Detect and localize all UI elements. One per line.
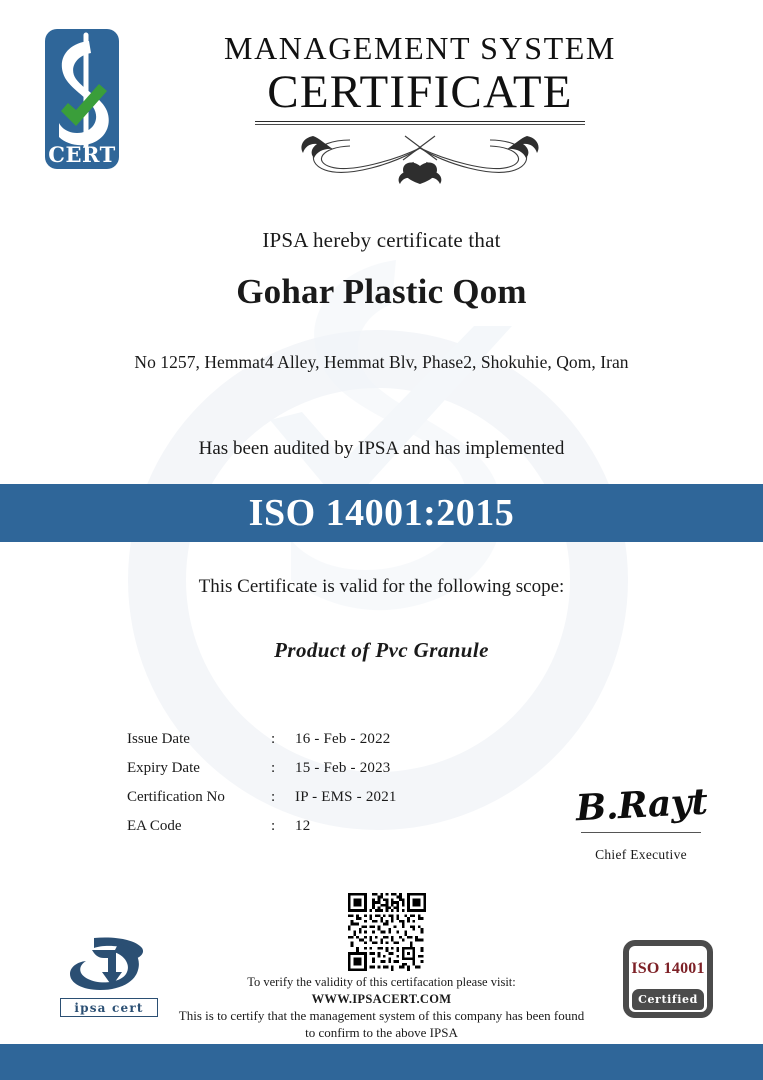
table-row: Certification No : IP - EMS - 2021: [127, 789, 397, 818]
hereby-line: IPSA hereby certificate that: [0, 228, 763, 253]
detail-value-ea-code: 12: [295, 818, 397, 847]
title-certificate: CERTIFICATE: [130, 68, 710, 117]
signature-block: B.Rayt Chief Executive: [566, 764, 716, 863]
standard-name: ISO 14001:2015: [249, 494, 515, 532]
table-row: Issue Date : 16 - Feb - 2022: [127, 731, 397, 760]
iso-badge-standard: ISO 14001: [629, 960, 707, 978]
table-row: EA Code : 12: [127, 818, 397, 847]
company-address: No 1257, Hemmat4 Alley, Hemmat Blv, Phas…: [0, 352, 763, 373]
title-management-system: MANAGEMENT SYSTEM: [130, 32, 710, 66]
certificate-page: CERT MANAGEMENT SYSTEM CERTIFICATE: [0, 0, 763, 1080]
scope-label: This Certificate is valid for the follow…: [0, 576, 763, 598]
statement-line-2: to confirm to the above IPSA: [0, 1024, 763, 1041]
title-divider-rule: [255, 121, 585, 125]
detail-label-issue-date: Issue Date: [127, 731, 271, 760]
detail-separator: :: [271, 760, 295, 789]
svg-text:CERT: CERT: [48, 142, 115, 167]
detail-label-ea-code: EA Code: [127, 818, 271, 847]
scroll-flourish-ornament-icon: [255, 126, 585, 184]
detail-separator: :: [271, 818, 295, 847]
detail-value-expiry-date: 15 - Feb - 2023: [295, 760, 397, 789]
standard-banner: ISO 14001:2015: [0, 484, 763, 542]
audited-line: Has been audited by IPSA and has impleme…: [0, 438, 763, 460]
scope-value: Product of Pvc Granule: [0, 638, 763, 663]
company-name: Gohar Plastic Qom: [0, 272, 763, 312]
certificate-details: Issue Date : 16 - Feb - 2022 Expiry Date…: [127, 731, 397, 847]
signature-title: Chief Executive: [566, 847, 716, 863]
iso-badge-status-band: Certified: [632, 989, 704, 1010]
detail-value-issue-date: 16 - Feb - 2022: [295, 731, 397, 760]
detail-separator: :: [271, 789, 295, 818]
detail-label-certification-no: Certification No: [127, 789, 271, 818]
ipsa-cert-wordmark: ipsa cert: [60, 998, 158, 1017]
qr-code-icon[interactable]: [348, 893, 426, 971]
title-block: MANAGEMENT SYSTEM CERTIFICATE: [130, 32, 710, 189]
ipsa-cert-logo-icon: CERT: [45, 29, 119, 169]
detail-label-expiry-date: Expiry Date: [127, 760, 271, 789]
signature-mark: B.Rayt: [564, 760, 717, 830]
iso-badge-status: Certified: [638, 994, 698, 1005]
iso-14001-certified-badge: ISO 14001 Certified: [623, 940, 713, 1018]
certificate-header: CERT MANAGEMENT SYSTEM CERTIFICATE: [0, 0, 763, 200]
detail-value-certification-no: IP - EMS - 2021: [295, 789, 397, 818]
signature-line: [581, 832, 701, 833]
ipsa-cert-wordmark-text: ipsa cert: [74, 1002, 143, 1014]
detail-separator: :: [271, 731, 295, 760]
table-row: Expiry Date : 15 - Feb - 2023: [127, 760, 397, 789]
details-table: Issue Date : 16 - Feb - 2022 Expiry Date…: [127, 731, 397, 847]
footer-bar: [0, 1044, 763, 1080]
